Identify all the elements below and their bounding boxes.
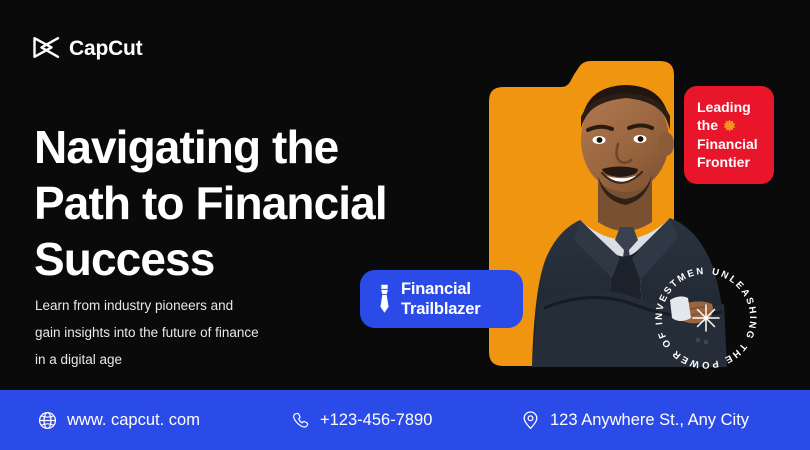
subcopy-line-3: in a digital age [35,346,335,373]
contact-phone[interactable]: +123-456-7890 [291,411,432,430]
circular-tagline-badge: UNLEASHING THE POWER OF INVESTMENTS [648,260,764,376]
financial-trailblazer-badge[interactable]: Financial Trailblazer [360,270,523,328]
red-badge-line-1: Leading [697,98,764,116]
circular-tagline-textpath: UNLEASHING THE POWER OF INVESTMENTS [644,252,758,370]
contact-phone-label: +123-456-7890 [320,412,432,429]
phone-icon [291,411,310,430]
capcut-mark-icon [33,36,60,61]
brand-logo[interactable]: CapCut [33,33,142,63]
subcopy-line-2: gain insights into the future of finance [35,319,335,346]
contact-address-label: 123 Anywhere St., Any City [550,412,749,429]
brand-name: CapCut [69,38,142,59]
headline-line-2: Path to Financial [34,175,464,231]
contact-website[interactable]: www. capcut. com [38,411,200,430]
globe-icon [38,411,57,430]
red-badge-line-3: Financial [697,135,764,153]
leading-financial-frontier-badge[interactable]: Leading the Financial Frontier [684,86,774,184]
headline-line-1: Navigating the [34,119,464,175]
page-title: Navigating the Path to Financial Success [34,119,464,287]
red-badge-line-4: Frontier [697,153,764,171]
footer-contact-bar: www. capcut. com +123-456-7890 123 Anywh… [0,390,810,450]
hero-subcopy: Learn from industry pioneers and gain in… [35,292,335,373]
trailblazer-line-2: Trailblazer [401,299,480,319]
poster-canvas: CapCut Navigating the Path to Financial … [0,0,810,450]
subcopy-line-1: Learn from industry pioneers and [35,292,335,319]
red-badge-row-2: the [697,116,764,134]
sun-burst-icon [723,119,736,132]
location-pin-icon [521,411,540,430]
necktie-icon [377,284,392,314]
red-badge-line-2: the [697,116,718,134]
trailblazer-text: Financial Trailblazer [401,279,480,319]
sparkle-icon [693,305,719,331]
contact-address[interactable]: 123 Anywhere St., Any City [521,411,749,430]
trailblazer-line-1: Financial [401,279,480,299]
circular-tagline-text: UNLEASHING THE POWER OF INVESTMENTS [644,252,758,370]
contact-website-label: www. capcut. com [67,412,200,429]
